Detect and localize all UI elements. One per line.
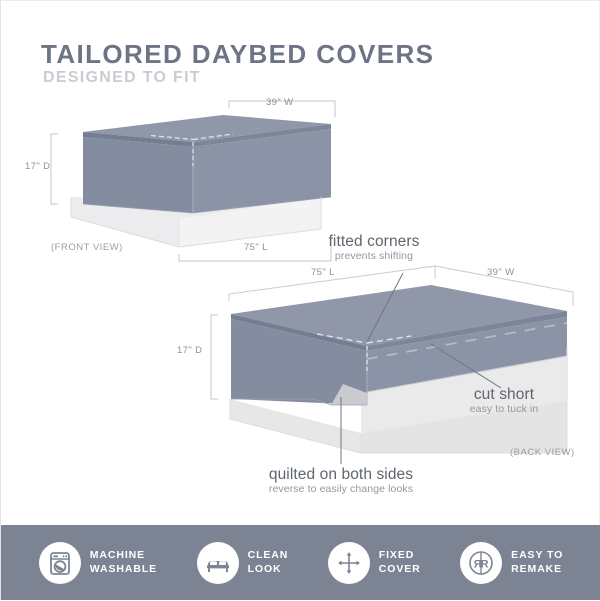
back-view-cover-right-face (367, 317, 567, 392)
back-view-corner-fold-flap (331, 384, 367, 405)
front-view-depth-bracket (51, 134, 58, 204)
back-view-depth-label: 17" D (177, 345, 202, 356)
page-title: TAILORED DAYBED COVERS (41, 39, 434, 70)
back-view-diagram (211, 266, 573, 464)
callout-quilted: quilted on both sides reverse to easily … (236, 467, 446, 496)
reversible-r-icon: R R (460, 542, 502, 584)
back-view-corner-fold-flap-2 (314, 384, 343, 405)
feature-line-1: MACHINE (90, 549, 157, 562)
back-view-top-bracket (229, 266, 573, 306)
callout-cut-short-subtitle: easy to tuck in (439, 403, 569, 416)
bed-icon (197, 542, 239, 584)
front-view-cover-welt (83, 132, 193, 148)
feature-bar: MACHINE WASHABLE CLEAN LOOK (1, 525, 600, 600)
front-view-label: (FRONT VIEW) (51, 242, 123, 253)
callout-fitted-corners: fitted corners prevents shifting (284, 234, 464, 263)
feature-line-2: WASHABLE (90, 563, 157, 576)
feature-line-1: EASY TO (511, 549, 563, 562)
leader-fitted-corners (367, 273, 403, 342)
callout-quilted-title: quilted on both sides (236, 467, 446, 483)
feature-clean-look: CLEAN LOOK (197, 542, 289, 584)
back-view-width-label: 39" W (487, 267, 515, 278)
front-view-cover-top (83, 115, 331, 142)
feature-easy-to-remake-label: EASY TO REMAKE (511, 549, 563, 575)
callout-cut-short: cut short easy to tuck in (439, 387, 569, 416)
page-subtitle: DESIGNED TO FIT (43, 69, 201, 87)
back-view-cover-top (231, 285, 567, 346)
front-view-stitch-top-right (193, 134, 233, 140)
four-way-arrow-icon (328, 542, 370, 584)
diagram-artwork (1, 1, 600, 601)
back-view-left-face-hem (231, 399, 367, 413)
back-view-stitch-right (367, 336, 411, 343)
washing-machine-icon (39, 542, 81, 584)
front-view-length-label: 75" L (244, 242, 268, 253)
back-view-bed-base (231, 331, 361, 451)
feature-machine-washable-label: MACHINE WASHABLE (90, 549, 157, 575)
feature-line-1: FIXED (379, 549, 421, 562)
feature-line-2: REMAKE (511, 563, 563, 576)
back-view-cut-short-dashed-hem (367, 323, 567, 359)
feature-line-2: COVER (379, 563, 421, 576)
leader-cut-short (431, 344, 501, 388)
feature-line-1: CLEAN (248, 549, 289, 562)
feature-clean-look-label: CLEAN LOOK (248, 549, 289, 575)
svg-text:R: R (481, 558, 489, 570)
feature-machine-washable: MACHINE WASHABLE (39, 542, 157, 584)
back-view-depth-bracket (211, 315, 218, 399)
feature-line-2: LOOK (248, 563, 289, 576)
callout-fitted-corners-subtitle: prevents shifting (284, 250, 464, 263)
back-view-label: (BACK VIEW) (510, 447, 575, 458)
callout-quilted-subtitle: reverse to easily change looks (236, 483, 446, 496)
front-view-width-label: 39" W (266, 97, 294, 108)
feature-fixed-cover-label: FIXED COVER (379, 549, 421, 575)
infographic-page: TAILORED DAYBED COVERS DESIGNED TO FIT (0, 0, 600, 600)
back-view-stitch-left (317, 334, 367, 343)
front-view-stitch-top (151, 136, 193, 140)
feature-easy-to-remake: R R EASY TO REMAKE (460, 542, 563, 584)
back-view-bed-base-left (230, 399, 361, 453)
callout-fitted-corners-title: fitted corners (284, 234, 464, 250)
front-view-cover-right-face (193, 129, 331, 213)
back-view-cover-left-face (231, 319, 367, 405)
callout-cut-short-title: cut short (439, 387, 569, 403)
front-view-cover-left-face (83, 137, 193, 213)
feature-fixed-cover: FIXED COVER (328, 542, 421, 584)
front-view-depth-label: 17" D (25, 161, 50, 172)
back-view-length-label: 75" L (311, 267, 335, 278)
